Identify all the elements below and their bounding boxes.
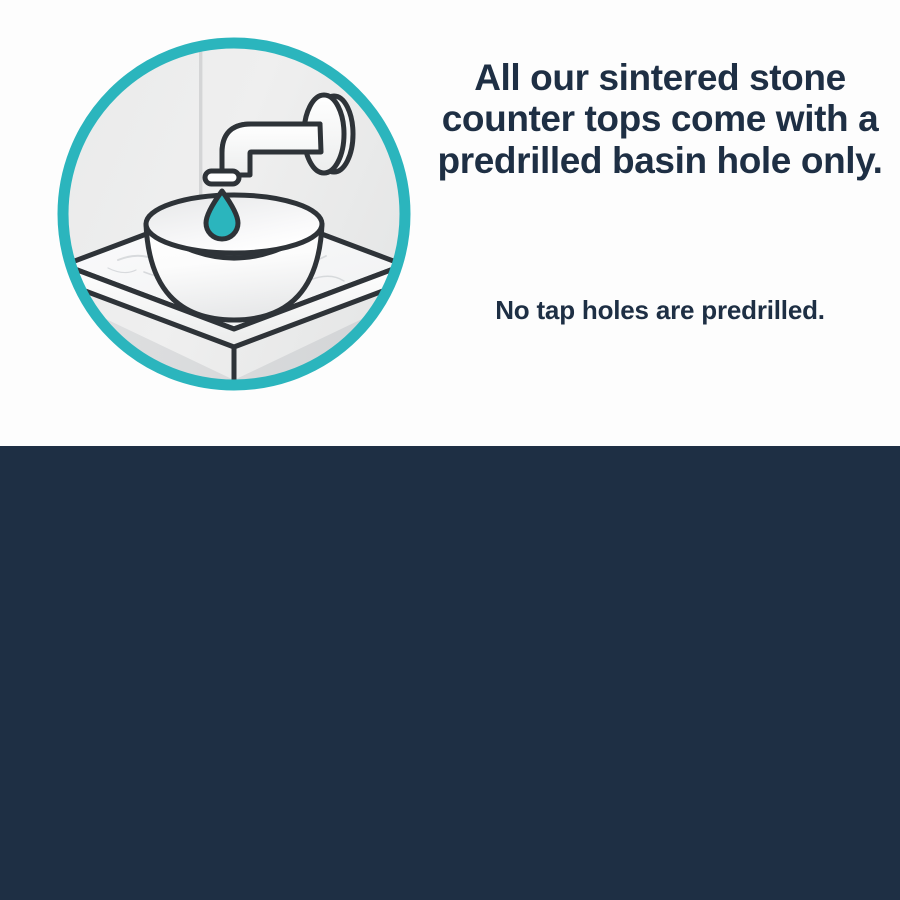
infographic-canvas: All our sintered stone counter tops come… bbox=[0, 0, 900, 900]
top-panel: All our sintered stone counter tops come… bbox=[0, 0, 900, 446]
top-subline: No tap holes are predrilled. bbox=[445, 295, 875, 325]
spout-aerator bbox=[205, 171, 239, 184]
top-scene bbox=[48, 28, 420, 400]
top-headline: All our sintered stone counter tops come… bbox=[430, 57, 890, 181]
top-illustration-wall-tap bbox=[48, 28, 420, 400]
bottom-panel: For deck mounted taps, a hole can be dri… bbox=[0, 446, 900, 900]
